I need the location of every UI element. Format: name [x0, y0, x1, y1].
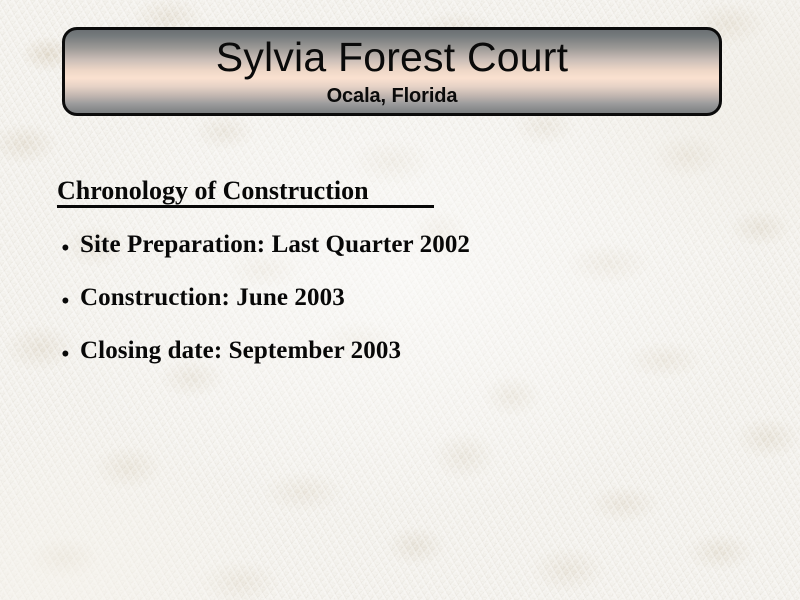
section-heading: Chronology of Construction: [57, 176, 369, 206]
chronology-bullet-list: • Site Preparation: Last Quarter 2002 • …: [0, 230, 800, 389]
bullet-icon: •: [61, 340, 70, 370]
section-heading-underline: [57, 205, 434, 208]
bullet-icon: •: [61, 234, 70, 264]
list-item: • Construction: June 2003: [0, 283, 800, 336]
list-item-label: Site Preparation: Last Quarter 2002: [61, 230, 470, 260]
list-item-label: Construction: June 2003: [61, 283, 345, 313]
presentation-slide: Sylvia Forest Court Ocala, Florida Chron…: [0, 0, 800, 600]
list-item: • Site Preparation: Last Quarter 2002: [0, 230, 800, 283]
slide-subtitle-location: Ocala, Florida: [65, 84, 719, 108]
title-banner: Sylvia Forest Court Ocala, Florida: [62, 27, 722, 116]
list-item: • Closing date: September 2003: [0, 336, 800, 389]
list-item-label: Closing date: September 2003: [61, 336, 401, 366]
bullet-icon: •: [61, 287, 70, 317]
slide-title: Sylvia Forest Court: [65, 33, 719, 81]
